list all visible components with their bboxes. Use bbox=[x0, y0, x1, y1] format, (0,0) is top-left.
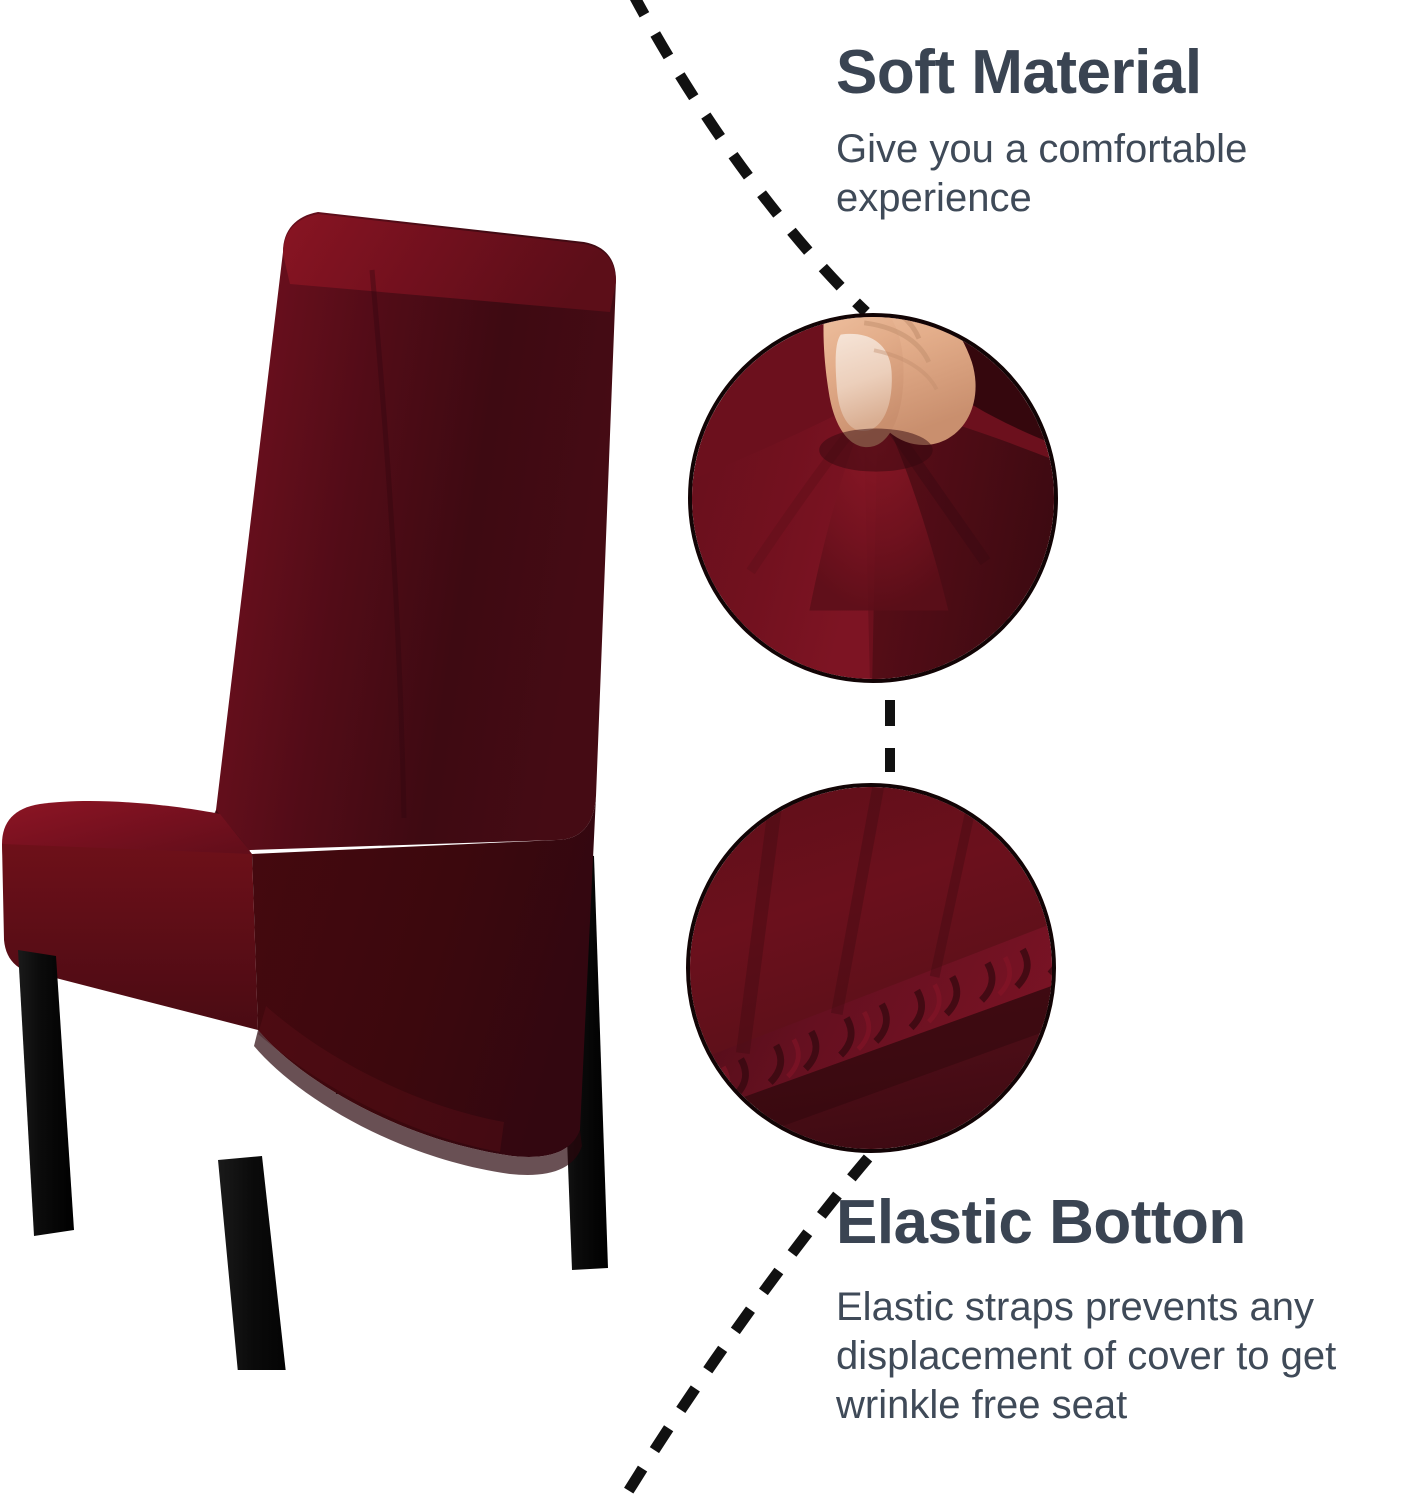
chair-leg-front-right bbox=[218, 1156, 302, 1370]
chair-illustration bbox=[0, 150, 660, 1370]
callout-soft-material bbox=[688, 313, 1058, 683]
thumbnail bbox=[836, 334, 892, 431]
feature-body-elastic-bottom: Elastic straps prevents any displacement… bbox=[836, 1283, 1416, 1431]
hand-shadow bbox=[819, 429, 932, 472]
feature-heading-soft-material: Soft Material bbox=[836, 40, 1416, 107]
chair-leg-front-left bbox=[18, 950, 74, 1236]
callout-elastic-bottom bbox=[686, 783, 1056, 1153]
elastic-hem-photo bbox=[690, 787, 1052, 1149]
feature-text-soft-material: Soft Material Give you a comfortable exp… bbox=[836, 40, 1416, 223]
dashed-arc-upper-segment bbox=[632, 0, 866, 312]
product-infographic: Soft Material Give you a comfortable exp… bbox=[0, 0, 1416, 1500]
chair-back-front-panel bbox=[216, 212, 616, 850]
chair-cover bbox=[2, 212, 616, 1175]
feature-text-elastic-bottom: Elastic Botton Elastic straps prevents a… bbox=[836, 1190, 1416, 1431]
feature-heading-elastic-bottom: Elastic Botton bbox=[836, 1190, 1416, 1257]
fabric-pinch-photo bbox=[692, 317, 1054, 679]
feature-body-soft-material: Give you a comfortable experience bbox=[836, 125, 1416, 223]
